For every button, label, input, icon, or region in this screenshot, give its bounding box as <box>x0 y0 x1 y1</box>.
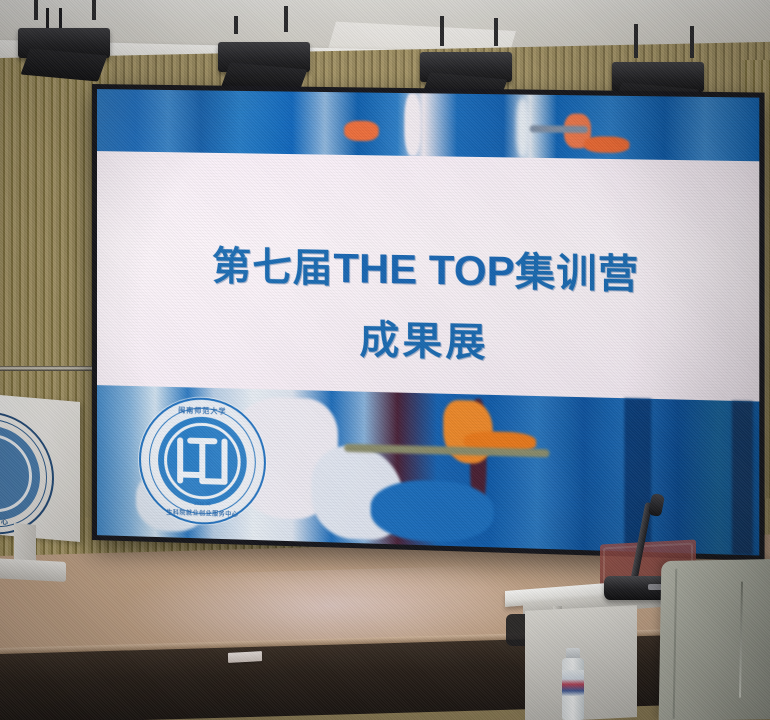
spotlight-rod-icon <box>634 24 638 58</box>
paint-stroke-blue <box>371 479 494 543</box>
podium-base <box>0 558 66 582</box>
spotlight-rod-icon <box>494 18 498 46</box>
paint-stroke-white <box>517 99 529 158</box>
title-prefix-cn: 第七届 <box>212 245 334 291</box>
bottle-label <box>562 670 584 696</box>
foreground-chair <box>659 559 770 720</box>
paint-stroke-white <box>404 93 420 156</box>
university-emblem-logo: 闽南师范大学 2018.06 生科院就业创业服务中心 <box>139 396 266 526</box>
title-suffix-cn: 集训营 <box>515 251 640 297</box>
spotlight-rod-icon <box>92 0 96 20</box>
led-screen-display: 第七届THE TOP集训营 成果展 主办方：闽南师范大学生科院团委 承办方：生科… <box>97 89 759 555</box>
chair-seam <box>673 569 678 719</box>
spotlight-rod-icon <box>34 0 38 20</box>
spotlight-rod-icon <box>284 6 288 32</box>
spotlight-rod-icon <box>234 16 238 34</box>
floor-paper-sheet <box>228 651 262 663</box>
emblem-top-arc-text: 闽南师范大学 <box>141 404 264 417</box>
chair-seam <box>739 582 743 698</box>
title-english: THE TOP <box>333 245 514 295</box>
auditorium-photo: 第七届THE TOP集训营 成果展 主办方：闽南师范大学生科院团委 承办方：生科… <box>0 0 770 720</box>
speaker-podium: 服务中心 <box>0 398 80 580</box>
slide-title-line-1: 第七届THE TOP集训营 <box>97 243 759 298</box>
spotlight-rod-icon <box>690 26 694 58</box>
slide-title-line-2: 成果展 <box>97 303 759 375</box>
slide-art-band-top <box>97 89 759 161</box>
paint-stroke-navy <box>732 401 753 555</box>
spotlight-rod-icon <box>440 16 444 46</box>
paint-stroke-orange <box>345 121 380 142</box>
led-screen-frame: 第七届THE TOP集训营 成果展 主办方：闽南师范大学生科院团委 承办方：生科… <box>92 84 765 561</box>
wall-trim-strip <box>0 366 98 371</box>
emblem-monogram-icon <box>175 437 229 485</box>
paint-stroke-grey <box>530 125 588 133</box>
water-bottle <box>560 648 586 720</box>
paint-stroke-orange <box>584 136 630 153</box>
slide-content-area: 第七届THE TOP集训营 成果展 主办方：闽南师范大学生科院团委 承办方：生科… <box>97 151 759 401</box>
